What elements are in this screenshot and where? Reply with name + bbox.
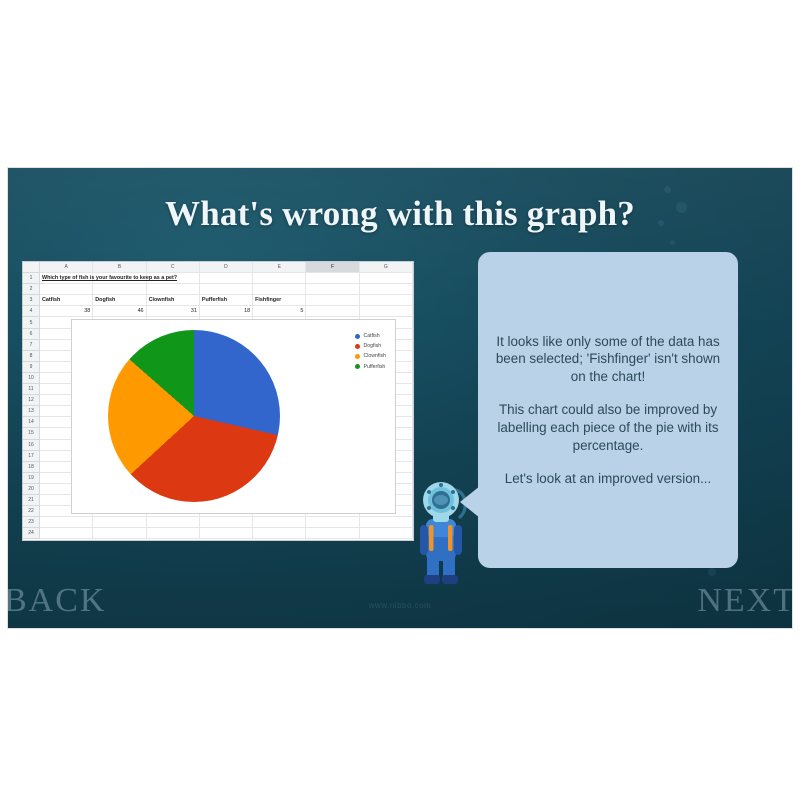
row-header-16[interactable]: 16 (23, 440, 40, 451)
presentation-slide: What's wrong with this graph? ABCDEFG1Wh… (8, 168, 792, 628)
cell-B2[interactable] (93, 284, 146, 295)
cell-D3[interactable]: Pufferfish (200, 295, 253, 306)
row-header-24[interactable]: 24 (23, 528, 40, 539)
legend-item: Clownfish (355, 353, 387, 359)
cell-D4[interactable]: 18 (200, 306, 253, 317)
column-header-a[interactable]: A (40, 262, 93, 273)
row-header-14[interactable]: 14 (23, 417, 40, 428)
speech-bubble-paragraph: This chart could also be improved by lab… (491, 401, 725, 454)
pie-chart-graphic (108, 330, 280, 502)
cell-G2[interactable] (360, 284, 413, 295)
cell-F3[interactable] (306, 295, 359, 306)
bubble-decoration-icon (664, 186, 671, 193)
cell-E2[interactable] (253, 284, 306, 295)
cell-C24[interactable] (147, 528, 200, 539)
row-header-23[interactable]: 23 (23, 517, 40, 528)
row-header-7[interactable]: 7 (23, 340, 40, 351)
cell-G23[interactable] (360, 517, 413, 528)
cell-E1[interactable] (253, 273, 306, 284)
row-header-9[interactable]: 9 (23, 362, 40, 373)
cell-E24[interactable] (253, 528, 306, 539)
cell-F4[interactable] (306, 306, 359, 317)
cell-A3[interactable]: Catfish (40, 295, 93, 306)
row-header-8[interactable]: 8 (23, 351, 40, 362)
row-header-10[interactable]: 10 (23, 373, 40, 384)
legend-label: Clownfish (364, 353, 387, 359)
cell-G4[interactable] (360, 306, 413, 317)
watermark: www.nibbo.com (8, 601, 792, 610)
legend-swatch-icon (355, 334, 360, 339)
spreadsheet-row: 1Which type of fish is your favourite to… (23, 273, 413, 284)
row-header-21[interactable]: 21 (23, 495, 40, 506)
column-header-c[interactable]: C (147, 262, 200, 273)
chart-legend: CatfishDogfishClownfishPufferfish (355, 333, 387, 374)
bubble-decoration-icon (670, 240, 675, 245)
cell-F23[interactable] (306, 517, 359, 528)
legend-item: Catfish (355, 333, 387, 339)
column-header-e[interactable]: E (253, 262, 306, 273)
row-header-17[interactable]: 17 (23, 451, 40, 462)
row-header-5[interactable]: 5 (23, 317, 40, 328)
cell-C2[interactable] (147, 284, 200, 295)
speech-bubble-tail (460, 486, 480, 518)
cell-F1[interactable] (306, 273, 359, 284)
cell-C23[interactable] (147, 517, 200, 528)
legend-swatch-icon (355, 344, 360, 349)
row-header-4[interactable]: 4 (23, 306, 40, 317)
row-header-19[interactable]: 19 (23, 473, 40, 484)
column-header-g[interactable]: G (360, 262, 413, 273)
cell-E4[interactable]: 5 (253, 306, 306, 317)
row-header-13[interactable]: 13 (23, 406, 40, 417)
legend-swatch-icon (355, 354, 360, 359)
spreadsheet[interactable]: ABCDEFG1Which type of fish is your favou… (22, 261, 414, 541)
row-header-1[interactable]: 1 (23, 273, 40, 284)
cell-D24[interactable] (200, 528, 253, 539)
cell-E3[interactable]: Fishfinger (253, 295, 306, 306)
cell-B23[interactable] (93, 517, 146, 528)
speech-bubble: It looks like only some of the data has … (478, 252, 738, 568)
spreadsheet-row: 3CatfishDogfishClownfishPufferfishFishfi… (23, 295, 413, 306)
cell-G24[interactable] (360, 528, 413, 539)
cell-C3[interactable]: Clownfish (147, 295, 200, 306)
cell-G1[interactable] (360, 273, 413, 284)
row-header-15[interactable]: 15 (23, 428, 40, 439)
cell-A4[interactable]: 38 (40, 306, 93, 317)
row-header-6[interactable]: 6 (23, 329, 40, 340)
column-header-d[interactable]: D (200, 262, 253, 273)
spreadsheet-row: 2 (23, 284, 413, 295)
cell-B3[interactable]: Dogfish (93, 295, 146, 306)
row-header-18[interactable]: 18 (23, 462, 40, 473)
cell-D23[interactable] (200, 517, 253, 528)
spreadsheet-header-row: ABCDEFG (23, 262, 413, 273)
cell-D2[interactable] (200, 284, 253, 295)
row-header-3[interactable]: 3 (23, 295, 40, 306)
pie-chart[interactable]: CatfishDogfishClownfishPufferfish (71, 319, 396, 514)
cell-A23[interactable] (40, 517, 93, 528)
cell-A1[interactable]: Which type of fish is your favourite to … (40, 273, 93, 284)
page-title: What's wrong with this graph? (8, 194, 792, 234)
cell-B24[interactable] (93, 528, 146, 539)
legend-swatch-icon (355, 364, 360, 369)
legend-label: Pufferfish (364, 364, 386, 370)
page-root: What's wrong with this graph? ABCDEFG1Wh… (0, 0, 800, 800)
cell-D1[interactable] (200, 273, 253, 284)
legend-label: Dogfish (364, 343, 382, 349)
row-header-12[interactable]: 12 (23, 395, 40, 406)
spreadsheet-row: 23 (23, 517, 413, 528)
speech-bubble-paragraph: It looks like only some of the data has … (491, 333, 725, 386)
column-header-f[interactable]: F (306, 262, 359, 273)
legend-label: Catfish (364, 333, 380, 339)
cell-F24[interactable] (306, 528, 359, 539)
spreadsheet-row: 24 (23, 528, 413, 539)
cell-C4[interactable]: 31 (147, 306, 200, 317)
row-header-22[interactable]: 22 (23, 506, 40, 517)
select-all-corner[interactable] (23, 262, 40, 273)
cell-E23[interactable] (253, 517, 306, 528)
spreadsheet-row: 4384631185 (23, 306, 413, 317)
row-header-20[interactable]: 20 (23, 484, 40, 495)
cell-B4[interactable]: 46 (93, 306, 146, 317)
bubble-decoration-icon (708, 568, 716, 576)
speech-bubble-paragraph: Let's look at an improved version... (491, 470, 725, 488)
row-header-11[interactable]: 11 (23, 384, 40, 395)
legend-item: Pufferfish (355, 364, 387, 370)
legend-item: Dogfish (355, 343, 387, 349)
cell-G3[interactable] (360, 295, 413, 306)
cell-F2[interactable] (306, 284, 359, 295)
cell-A24[interactable] (40, 528, 93, 539)
column-header-b[interactable]: B (93, 262, 146, 273)
row-header-2[interactable]: 2 (23, 284, 40, 295)
cell-A2[interactable] (40, 284, 93, 295)
